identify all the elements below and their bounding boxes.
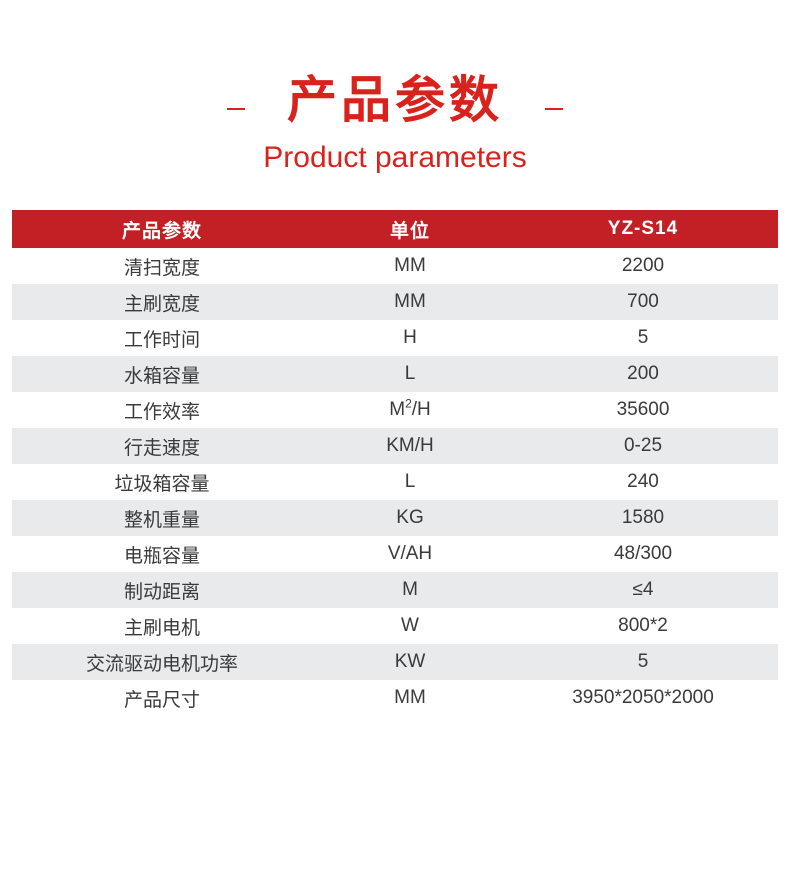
table-row: 电瓶容量V/AH48/300 xyxy=(12,536,778,572)
title-block: 产品参数 Product parameters xyxy=(241,72,548,176)
table-header: 产品参数 单位 YZ-S14 xyxy=(12,210,778,248)
cell-value: ≤4 xyxy=(508,572,778,608)
cell-unit: KG xyxy=(312,500,508,536)
cell-value: 3950*2050*2000 xyxy=(508,680,778,716)
table-header-row: 产品参数 单位 YZ-S14 xyxy=(12,210,778,248)
cell-parameter: 清扫宽度 xyxy=(12,248,312,284)
cell-unit: M2/H xyxy=(312,392,508,428)
product-parameters-page: 产品参数 Product parameters 产品参数 单位 YZ-S14 清… xyxy=(0,0,790,873)
cell-value: 2200 xyxy=(508,248,778,284)
cell-unit: MM xyxy=(312,680,508,716)
cell-unit: M xyxy=(312,572,508,608)
cell-unit: KW xyxy=(312,644,508,680)
cell-unit: L xyxy=(312,356,508,392)
cell-parameter: 行走速度 xyxy=(12,428,312,464)
cell-value: 0-25 xyxy=(508,428,778,464)
table-row: 产品尺寸MM3950*2050*2000 xyxy=(12,680,778,716)
cell-unit: KM/H xyxy=(312,428,508,464)
cell-parameter: 工作时间 xyxy=(12,320,312,356)
cell-value: 800*2 xyxy=(508,608,778,644)
cell-parameter: 垃圾箱容量 xyxy=(12,464,312,500)
cell-parameter: 水箱容量 xyxy=(12,356,312,392)
cell-parameter: 整机重量 xyxy=(12,500,312,536)
cell-parameter: 交流驱动电机功率 xyxy=(12,644,312,680)
table-row: 工作效率M2/H35600 xyxy=(12,392,778,428)
cell-value: 5 xyxy=(508,320,778,356)
table-row: 清扫宽度MM2200 xyxy=(12,248,778,284)
table-body: 清扫宽度MM2200主刷宽度MM700工作时间H5水箱容量L200工作效率M2/… xyxy=(12,248,778,716)
cell-value: 5 xyxy=(508,644,778,680)
column-header-model: YZ-S14 xyxy=(508,210,778,248)
parameters-table-wrap: 产品参数 单位 YZ-S14 清扫宽度MM2200主刷宽度MM700工作时间H5… xyxy=(0,210,790,716)
cell-parameter: 制动距离 xyxy=(12,572,312,608)
cell-parameter: 产品尺寸 xyxy=(12,680,312,716)
table-row: 主刷宽度MM700 xyxy=(12,284,778,320)
cell-value: 700 xyxy=(508,284,778,320)
cell-value: 35600 xyxy=(508,392,778,428)
table-row: 垃圾箱容量L240 xyxy=(12,464,778,500)
cell-parameter: 工作效率 xyxy=(12,392,312,428)
page-title-en: Product parameters xyxy=(263,140,526,176)
cell-unit: L xyxy=(312,464,508,500)
cell-parameter: 电瓶容量 xyxy=(12,536,312,572)
column-header-unit: 单位 xyxy=(312,210,508,248)
table-row: 整机重量KG1580 xyxy=(12,500,778,536)
column-header-parameter: 产品参数 xyxy=(12,210,312,248)
table-row: 行走速度KM/H0-25 xyxy=(12,428,778,464)
cell-parameter: 主刷宽度 xyxy=(12,284,312,320)
table-row: 交流驱动电机功率KW5 xyxy=(12,644,778,680)
cell-unit: H xyxy=(312,320,508,356)
cell-unit: MM xyxy=(312,284,508,320)
cell-value: 48/300 xyxy=(508,536,778,572)
parameters-table: 产品参数 单位 YZ-S14 清扫宽度MM2200主刷宽度MM700工作时间H5… xyxy=(12,210,778,716)
cell-parameter: 主刷电机 xyxy=(12,608,312,644)
cell-unit: W xyxy=(312,608,508,644)
cell-value: 240 xyxy=(508,464,778,500)
cell-unit: MM xyxy=(312,248,508,284)
table-row: 制动距离M≤4 xyxy=(12,572,778,608)
page-title-cn: 产品参数 xyxy=(263,72,526,128)
cell-value: 200 xyxy=(508,356,778,392)
table-row: 主刷电机W800*2 xyxy=(12,608,778,644)
table-row: 工作时间H5 xyxy=(12,320,778,356)
cell-unit: V/AH xyxy=(312,536,508,572)
page-header: 产品参数 Product parameters xyxy=(0,0,790,176)
cell-value: 1580 xyxy=(508,500,778,536)
table-row: 水箱容量L200 xyxy=(12,356,778,392)
